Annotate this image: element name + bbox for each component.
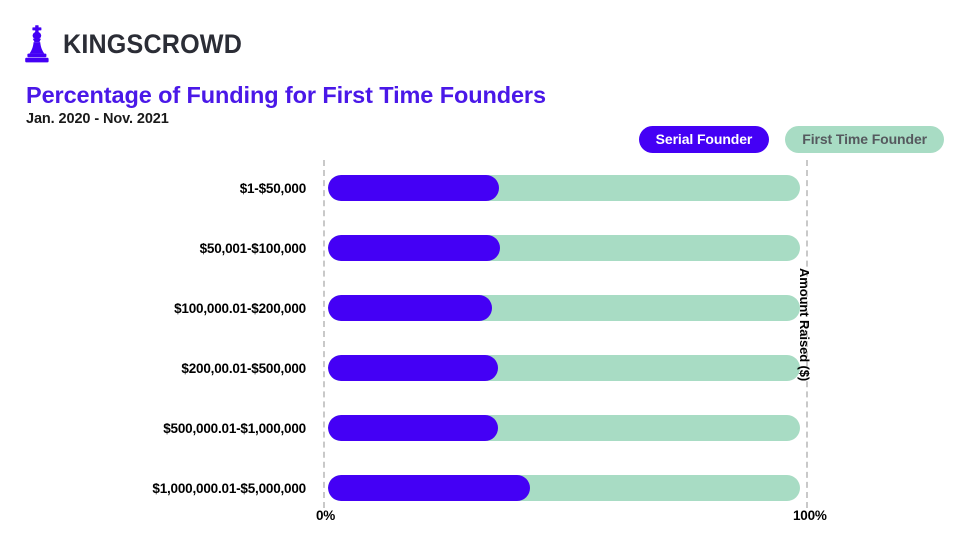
category-label: $50,001-$100,000 [0, 241, 306, 256]
bar-row: $500,000.01-$1,000,000 [0, 398, 980, 458]
chart-page: KINGSCROWD Percentage of Funding for Fir… [0, 0, 980, 550]
bar-row: $200,00.01-$500,000 [0, 338, 980, 398]
x-axis-tick-0: 0% [316, 508, 335, 523]
stacked-bar-track[interactable] [328, 355, 800, 381]
bar-segment-serial-founder[interactable] [328, 235, 500, 261]
bar-row: $50,001-$100,000 [0, 218, 980, 278]
category-label: $1,000,000.01-$5,000,000 [0, 481, 306, 496]
category-label: $200,00.01-$500,000 [0, 361, 306, 376]
category-label: $1-$50,000 [0, 181, 306, 196]
bar-segment-serial-founder[interactable] [328, 475, 530, 501]
stacked-bar-track[interactable] [328, 235, 800, 261]
chess-king-icon [22, 24, 52, 64]
stacked-bar-track[interactable] [328, 175, 800, 201]
page-subtitle: Jan. 2020 - Nov. 2021 [26, 111, 169, 127]
brand-logo: KINGSCROWD [22, 24, 256, 64]
category-label: $500,000.01-$1,000,000 [0, 421, 306, 436]
bar-segment-serial-founder[interactable] [328, 355, 498, 381]
page-title: Percentage of Funding for First Time Fou… [26, 82, 546, 109]
plot-area: $1-$50,000 $50,001-$100,000 $100,000.01-… [0, 158, 980, 550]
legend-item-serial-founder[interactable]: Serial Founder [639, 126, 770, 153]
bar-segment-serial-founder[interactable] [328, 175, 499, 201]
bar-row: $1,000,000.01-$5,000,000 [0, 458, 980, 518]
stacked-bar-track[interactable] [328, 475, 800, 501]
stacked-bar-track[interactable] [328, 415, 800, 441]
x-axis-tick-100: 100% [793, 508, 827, 523]
stacked-bar-track[interactable] [328, 295, 800, 321]
bar-row: $100,000.01-$200,000 [0, 278, 980, 338]
bar-segment-serial-founder[interactable] [328, 415, 498, 441]
legend: Serial Founder First Time Founder [639, 126, 944, 153]
brand-wordmark: KINGSCROWD [63, 29, 242, 60]
category-label: $100,000.01-$200,000 [0, 301, 306, 316]
bar-segment-serial-founder[interactable] [328, 295, 492, 321]
bar-rows: $1-$50,000 $50,001-$100,000 $100,000.01-… [0, 158, 980, 518]
y-axis-title: Amount Raised ($) [797, 268, 812, 381]
legend-item-first-time-founder[interactable]: First Time Founder [785, 126, 944, 153]
bar-row: $1-$50,000 [0, 158, 980, 218]
